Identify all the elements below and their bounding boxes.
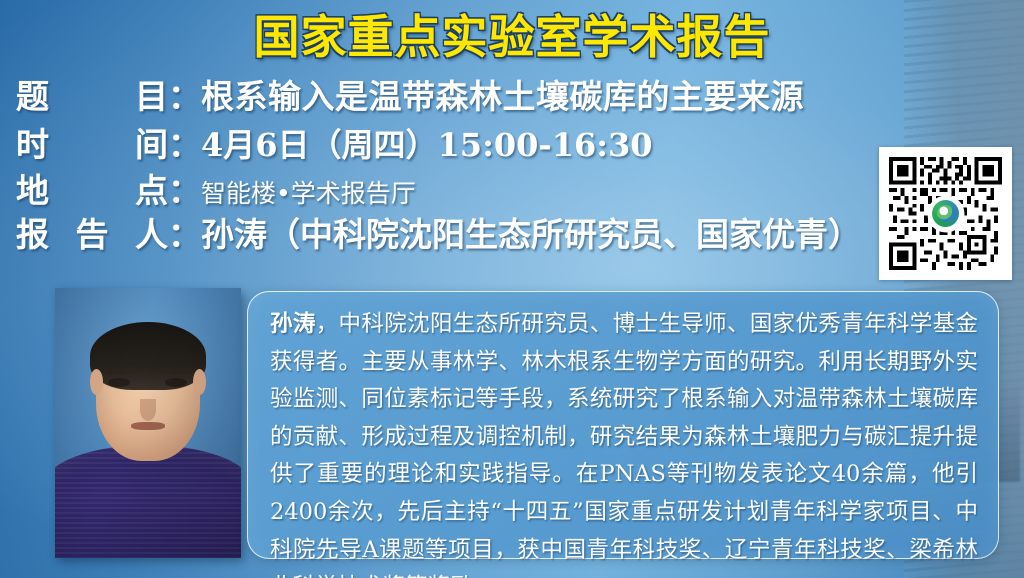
info-row-place: 地 点： 智能楼•学术报告厅 [16, 174, 896, 218]
info-label-place: 地 点 [16, 174, 168, 207]
speaker-bio-name: 孙涛 [270, 311, 316, 337]
info-value-place: 智能楼•学术报告厅 [201, 181, 896, 206]
info-colon-place: ： [168, 174, 201, 207]
poster-canvas: 国家重点实验室学术报告 题 目： 根系输入是温带森林土壤碳库的主要来源 时 间：… [0, 0, 1024, 578]
info-value-speaker: 孙涛（中科院沈阳生态所研究员、国家优青） [201, 218, 896, 251]
page-title: 国家重点实验室学术报告 [0, 6, 1024, 68]
info-label-speaker: 报告人 [16, 218, 168, 251]
info-value-time: 4月6日（周四）15:00-16:30 [201, 129, 896, 161]
speaker-bio-body: ，中科院沈阳生态所研究员、博士生导师、国家优秀青年科学基金获得者。主要从事林学、… [270, 311, 978, 578]
qr-code[interactable] [879, 147, 1012, 280]
info-list: 题 目： 根系输入是温带森林土壤碳库的主要来源 时 间： 4月6日（周四）15:… [16, 80, 896, 268]
info-label-time: 时 间 [16, 128, 168, 161]
info-row-speaker: 报告人： 孙涛（中科院沈阳生态所研究员、国家优青） [16, 218, 896, 268]
info-row-topic: 题 目： 根系输入是温带森林土壤碳库的主要来源 [16, 80, 896, 128]
info-row-time: 时 间： 4月6日（周四）15:00-16:30 [16, 128, 896, 174]
info-colon-speaker: ： [168, 218, 201, 251]
speaker-portrait [55, 288, 241, 558]
institute-logo-icon [929, 197, 963, 231]
speaker-bio-text: 孙涛，中科院沈阳生态所研究员、博士生导师、国家优秀青年科学基金获得者。主要从事林… [270, 306, 978, 578]
info-colon-topic: ： [168, 80, 201, 113]
info-label-topic: 题 目 [16, 80, 168, 113]
speaker-bio-box: 孙涛，中科院沈阳生态所研究员、博士生导师、国家优秀青年科学基金获得者。主要从事林… [247, 291, 999, 559]
info-value-topic: 根系输入是温带森林土壤碳库的主要来源 [201, 80, 896, 113]
info-colon-time: ： [168, 128, 201, 161]
